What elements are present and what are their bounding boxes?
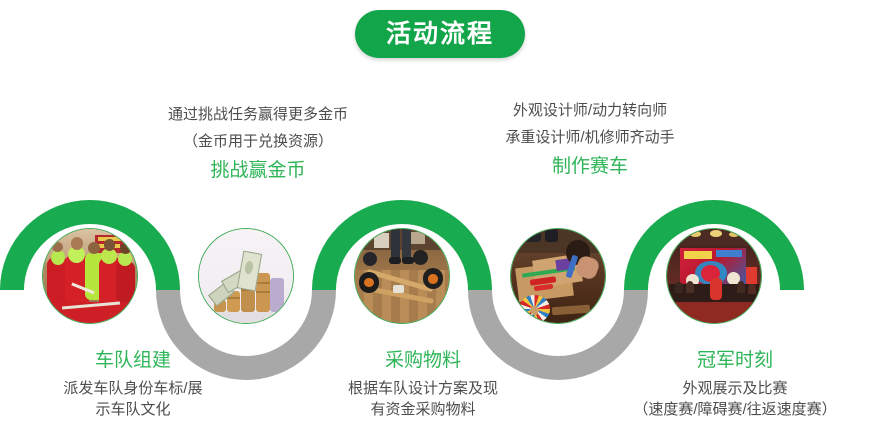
caption-step-1: 车队组建 派发车队身份车标/展 示车队文化 <box>0 348 278 420</box>
page-title: 活动流程 <box>386 22 494 47</box>
caption-step-4-desc-line-1: 外观设计师/动力转向师 <box>440 100 740 121</box>
caption-step-2-desc-line-2: （金币用于兑换资源） <box>108 131 408 152</box>
caption-step-1-title: 车队组建 <box>0 348 278 374</box>
page-title-badge: 活动流程 <box>355 10 525 58</box>
caption-step-4-title: 制作赛车 <box>440 154 740 180</box>
caption-step-3-desc-line-1: 根据车队设计方案及现 <box>278 378 568 399</box>
material-purchase-photo <box>354 228 450 324</box>
car-making-photo <box>510 228 606 324</box>
caption-step-1-desc-line-2: 示车队文化 <box>0 399 278 420</box>
team-building-photo <box>42 228 138 324</box>
caption-step-2-title: 挑战赢金币 <box>108 158 408 184</box>
caption-step-3-title: 采购物料 <box>278 348 568 374</box>
activity-flow-infographic: 活动流程 <box>0 0 880 445</box>
caption-step-4-desc-line-2: 承重设计师/机修师齐动手 <box>440 127 740 148</box>
coins-money-photo <box>198 228 294 324</box>
caption-step-1-desc-line-1: 派发车队身份车标/展 <box>0 378 278 399</box>
caption-step-5-desc-line-1: 外观展示及比赛 <box>590 378 880 399</box>
caption-step-4: 外观设计师/动力转向师 承重设计师/机修师齐动手 制作赛车 <box>440 100 740 180</box>
caption-step-5-title: 冠军时刻 <box>590 348 880 374</box>
caption-step-3-desc-line-2: 有资金采购物料 <box>278 399 568 420</box>
champion-moment-photo <box>666 228 762 324</box>
caption-step-2-desc-line-1: 通过挑战任务赢得更多金币 <box>108 104 408 125</box>
caption-step-2: 通过挑战任务赢得更多金币 （金币用于兑换资源） 挑战赢金币 <box>108 104 408 184</box>
caption-step-3: 采购物料 根据车队设计方案及现 有资金采购物料 <box>278 348 568 420</box>
caption-step-5: 冠军时刻 外观展示及比赛 （速度赛/障碍赛/往返速度赛） <box>590 348 880 420</box>
caption-step-5-desc-line-2: （速度赛/障碍赛/往返速度赛） <box>590 399 880 420</box>
